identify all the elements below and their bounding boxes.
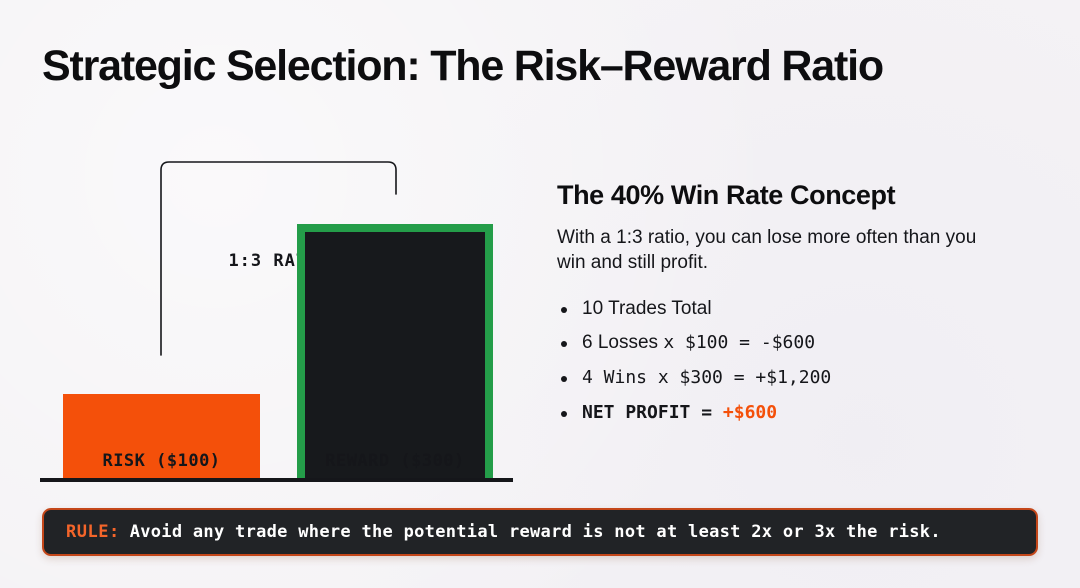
bullet-mono-1: x $100 = -$600 <box>663 332 815 353</box>
page-title: Strategic Selection: The Risk–Reward Rat… <box>42 42 1042 90</box>
rule-callout-bar: RULE: Avoid any trade where the potentia… <box>42 508 1038 556</box>
list-item: 4 Wins x $300 = +$1,200 <box>557 367 1037 390</box>
bullet-text-1: 6 Losses <box>582 332 663 353</box>
list-item: NET PROFIT = +$600 <box>557 402 1037 425</box>
chart-baseline-axis <box>40 478 513 482</box>
net-profit-value: +$600 <box>723 402 777 423</box>
rule-text: Avoid any trade where the potential rewa… <box>130 522 941 542</box>
bullet-mono-2: 4 Wins x $300 = +$1,200 <box>582 367 831 388</box>
bar-reward <box>297 224 493 480</box>
chart-axis-labels: RISK ($100) REWARD ($300) <box>0 451 540 477</box>
axis-label-reward: REWARD ($300) <box>277 451 513 471</box>
list-item: 10 Trades Total <box>557 298 1037 321</box>
win-rate-panel: The 40% Win Rate Concept With a 1:3 rati… <box>557 180 1037 437</box>
panel-subtext: With a 1:3 ratio, you can lose more ofte… <box>557 225 1007 276</box>
calculation-bullet-list: 10 Trades Total 6 Losses x $100 = -$600 … <box>557 298 1037 425</box>
slide-root: Strategic Selection: The Risk–Reward Rat… <box>0 0 1080 588</box>
bullet-mono-3: NET PROFIT = <box>582 402 723 423</box>
risk-reward-bar-chart: 1:3 RATIO <box>0 120 540 480</box>
rule-key-label: RULE: <box>66 522 120 542</box>
bullet-text-0: 10 Trades Total <box>582 298 712 319</box>
panel-heading: The 40% Win Rate Concept <box>557 180 1037 211</box>
list-item: 6 Losses x $100 = -$600 <box>557 332 1037 355</box>
axis-label-risk: RISK ($100) <box>43 451 280 471</box>
